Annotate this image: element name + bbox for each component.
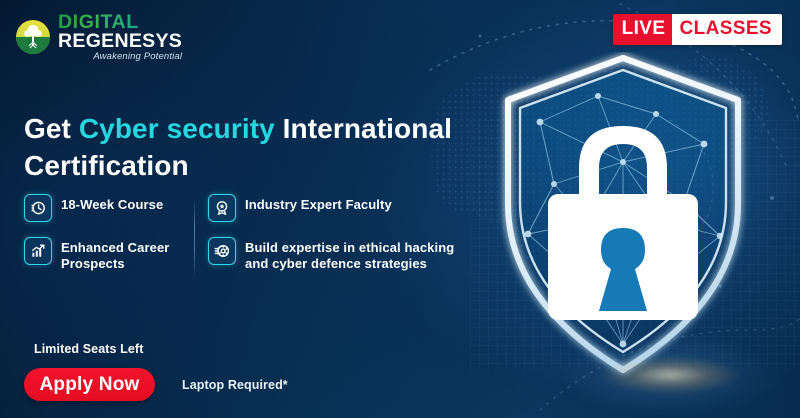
feature-column-right: Industry Expert Faculty <box>208 193 464 287</box>
feature-label: 18-Week Course <box>61 193 163 213</box>
brand-wordmark: DIGITAL REGENESYS Awakening Potential <box>58 12 182 62</box>
apply-now-button[interactable]: Apply Now <box>24 368 155 401</box>
feature-label: Industry Expert Faculty <box>245 193 392 213</box>
brand-logo[interactable]: DIGITAL REGENESYS Awakening Potential <box>14 12 182 62</box>
feature-label: Enhanced Career Prospects <box>61 236 192 273</box>
headline-part1: Get <box>24 113 79 144</box>
bar-chart-growth-icon <box>24 237 52 265</box>
feature-item-career-prospects: Enhanced Career Prospects <box>24 236 192 273</box>
badge-classes-label: CLASSES <box>672 14 782 45</box>
live-classes-badge: LIVE CLASSES <box>613 14 782 45</box>
limited-seats-text: Limited Seats Left <box>34 342 143 356</box>
column-divider <box>194 199 195 279</box>
laptop-required-note: Laptop Required* <box>182 378 288 392</box>
feature-item-ethical-hacking: Build expertise in ethical hacking and c… <box>208 236 464 273</box>
feature-label: Build expertise in ethical hacking and c… <box>245 236 464 273</box>
feature-item-faculty: Industry Expert Faculty <box>208 193 464 222</box>
badge-live-label: LIVE <box>613 14 673 45</box>
cybersecurity-promo-banner: DIGITAL REGENESYS Awakening Potential LI… <box>0 0 800 418</box>
tree-emblem-icon <box>14 18 52 56</box>
brand-tagline: Awakening Potential <box>58 52 182 62</box>
clock-icon <box>24 194 52 222</box>
feature-item-course-length: 18-Week Course <box>24 193 192 222</box>
headline-highlight: Cyber security <box>79 113 275 144</box>
page-title: Get Cyber security International Certifi… <box>24 111 494 185</box>
feature-column-left: 18-Week Course Enhanced Career Prospects <box>24 193 192 287</box>
award-badge-icon <box>208 194 236 222</box>
brand-name-regenesys: REGENESYS <box>58 32 182 52</box>
gear-icon <box>208 237 236 265</box>
bottom-glow <box>560 300 780 418</box>
feature-list: 18-Week Course Enhanced Career Prospects <box>24 193 464 285</box>
